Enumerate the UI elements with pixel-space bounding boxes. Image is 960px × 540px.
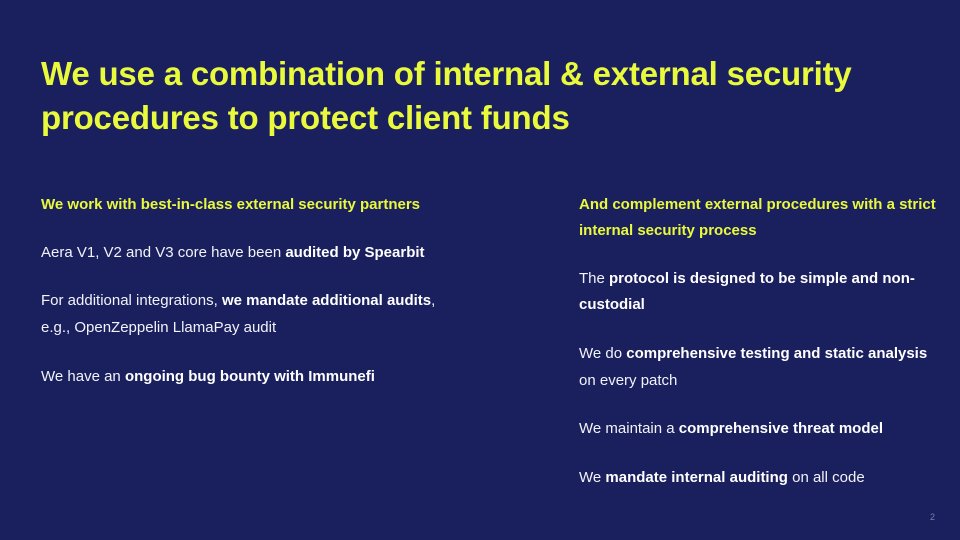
page-title: We use a combination of internal & exter… — [41, 52, 861, 139]
left-column: We work with best-in-class external secu… — [0, 192, 490, 492]
left-column-heading: We work with best-in-class external secu… — [41, 192, 445, 218]
right-column-paragraph-3: We maintain a comprehensive threat model — [579, 416, 940, 443]
right-column-paragraph-4: We mandate internal auditing on all code — [579, 465, 940, 492]
right-column: And complement external procedures with … — [490, 192, 960, 492]
right-column-paragraph-1: The protocol is designed to be simple an… — [579, 266, 940, 319]
left-column-paragraph-2: For additional integrations, we mandate … — [41, 288, 445, 341]
content-columns: We work with best-in-class external secu… — [0, 192, 960, 492]
page-number: 2 — [930, 513, 935, 522]
left-column-paragraph-3: We have an ongoing bug bounty with Immun… — [41, 364, 445, 391]
right-column-paragraph-2: We do comprehensive testing and static a… — [579, 341, 940, 394]
left-column-paragraph-1: Aera V1, V2 and V3 core have been audite… — [41, 240, 445, 267]
right-column-heading: And complement external procedures with … — [579, 192, 940, 244]
presentation-slide: We use a combination of internal & exter… — [0, 0, 960, 540]
